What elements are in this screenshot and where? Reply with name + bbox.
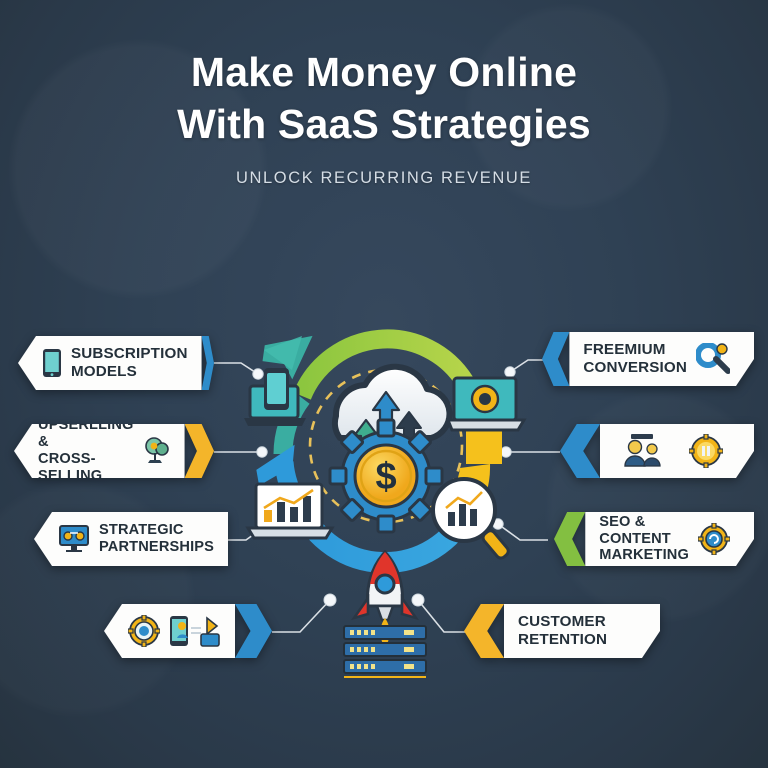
key-unlock-icon — [696, 343, 730, 375]
chevron-right-icon — [202, 336, 214, 390]
chevron-left-icon — [560, 424, 600, 478]
server-rack-icon — [344, 626, 426, 678]
smartphone-icon — [42, 348, 62, 378]
chevron-left-icon — [554, 512, 585, 566]
page-title-line2: With SaaS Strategies — [0, 98, 768, 150]
gear-badge-icon — [128, 615, 160, 647]
rocket-server-group — [330, 548, 440, 678]
growth-plant-icon — [143, 436, 171, 466]
banner-label: STRATEGIC PARTNERSHIPS — [99, 522, 214, 556]
chevron-left-icon — [464, 604, 504, 658]
banner-label: FREEMIUM CONVERSION — [583, 341, 687, 376]
page-title-line1: Make Money Online — [0, 46, 768, 98]
banner-upselling-cross-selling[interactable]: UPSERLLING & CROSS-SELLING — [14, 424, 214, 478]
banner-team-engagement[interactable] — [560, 424, 754, 478]
chevron-right-icon — [185, 424, 214, 478]
gold-gear-icon — [689, 434, 723, 468]
gear-dollar-icon: $ — [330, 420, 442, 532]
banner-referral-program[interactable] — [104, 604, 272, 658]
chevron-right-icon — [235, 604, 272, 658]
banner-label: CUSTOMER RETENTION — [518, 613, 636, 648]
banner-customer-retention[interactable]: CUSTOMER RETENTION — [464, 604, 660, 658]
banner-strategic-partnerships[interactable]: STRATEGIC PARTNERSHIPS — [34, 512, 218, 566]
page-subtitle: UNLOCK RECURRING REVENUE — [0, 169, 768, 188]
banner-freemium-conversion[interactable]: FREEMIUM CONVERSION — [542, 332, 754, 386]
gear-search-icon — [698, 523, 730, 555]
chevron-left-icon — [542, 332, 569, 386]
banner-label: UPSERLLING & CROSS-SELLING — [38, 417, 134, 485]
central-hub: $ — [240, 278, 532, 578]
team-people-icon — [621, 434, 665, 468]
tablet-laptop-icon — [244, 368, 306, 426]
banner-label: SUBSCRIPTION MODELS — [71, 345, 188, 380]
banner-label: SEO & CONTENT MARKETING — [599, 514, 689, 565]
monitor-handshake-icon — [58, 524, 90, 554]
header: Make Money Online With SaaS Strategies U… — [0, 46, 768, 188]
mobile-referral-icon — [169, 614, 221, 648]
laptop-chart-icon — [248, 484, 332, 538]
banner-seo-content-marketing[interactable]: SEO & CONTENT MARKETING — [554, 512, 754, 566]
banner-subscription-models[interactable]: SUBSCRIPTION MODELS — [18, 336, 214, 390]
laptop-gear-icon — [448, 378, 524, 430]
dollar-symbol: $ — [375, 456, 396, 498]
